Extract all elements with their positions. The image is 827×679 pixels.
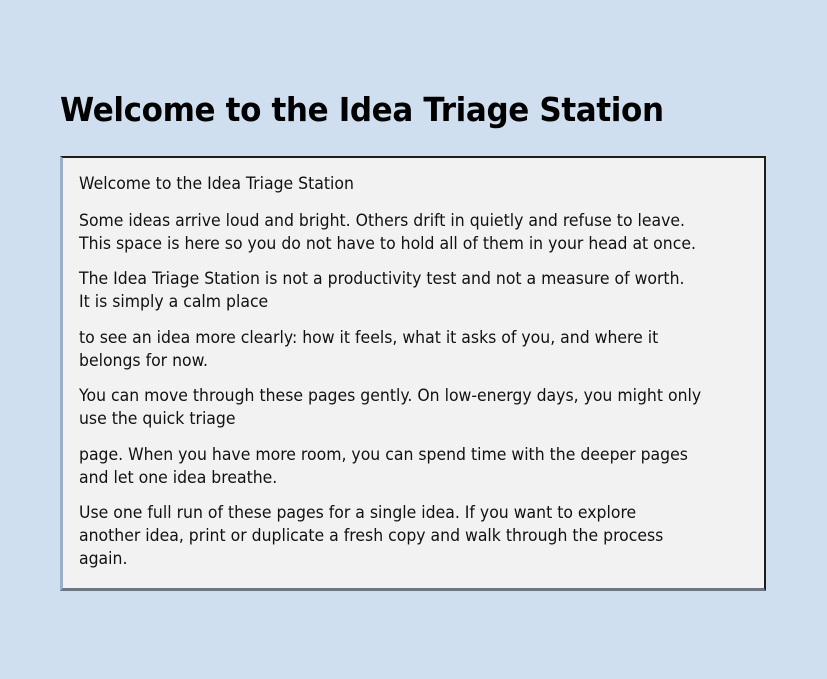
welcome-content-card: Welcome to the Idea Triage Station Some … (60, 156, 766, 591)
card-paragraph: to see an idea more clearly: how it feel… (79, 327, 709, 373)
card-paragraph: page. When you have more room, you can s… (79, 444, 709, 490)
page-title: Welcome to the Idea Triage Station (60, 91, 664, 129)
card-paragraph: Some ideas arrive loud and bright. Other… (79, 210, 709, 256)
card-paragraph: Use one full run of these pages for a si… (79, 502, 709, 570)
card-paragraph: You can move through these pages gently.… (79, 385, 709, 431)
page-root: Welcome to the Idea Triage Station Welco… (0, 0, 827, 679)
card-paragraph: The Idea Triage Station is not a product… (79, 268, 709, 314)
card-heading: Welcome to the Idea Triage Station (79, 174, 709, 194)
